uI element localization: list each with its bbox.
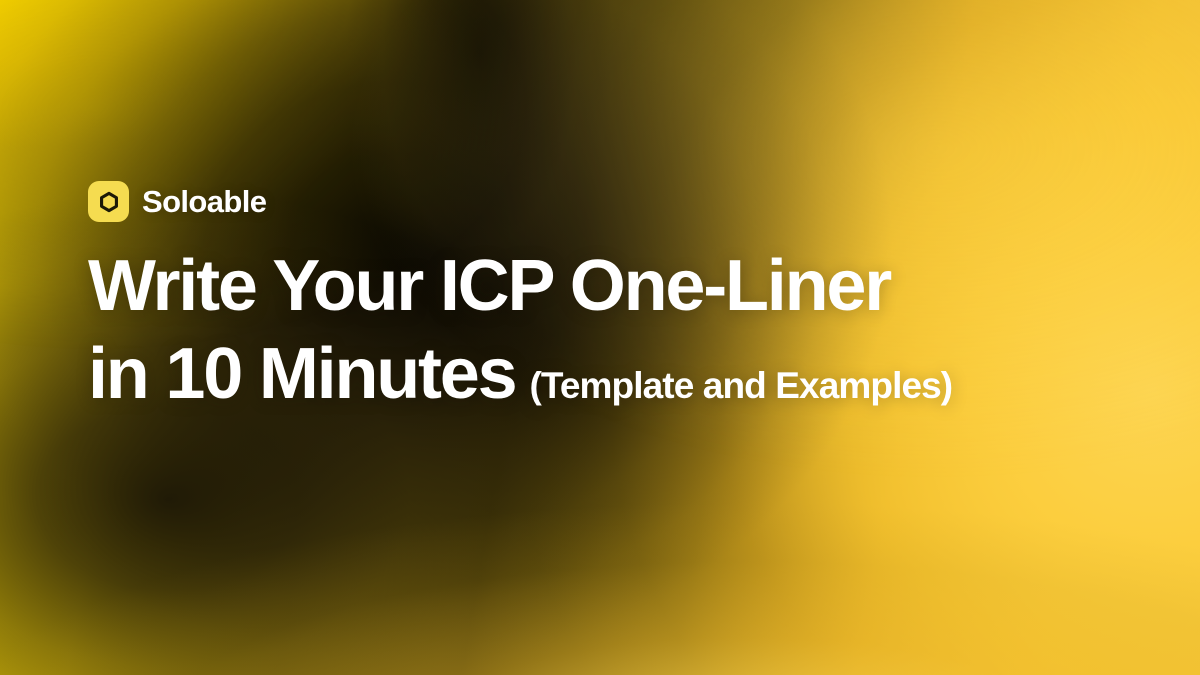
page-title-line-2-wrap: in 10 Minutes(Template and Examples) [88, 331, 1098, 419]
hexagon-icon [88, 181, 129, 222]
page-title-suffix: (Template and Examples) [529, 365, 952, 406]
page-title-line-2: in 10 Minutes [88, 334, 515, 414]
hero-card: Soloable Write Your ICP One-Liner in 10 … [0, 0, 1200, 675]
brand-name: Soloable [142, 186, 266, 217]
hero-content: Soloable Write Your ICP One-Liner in 10 … [88, 0, 1118, 675]
page-title: Write Your ICP One-Liner in 10 Minutes(T… [88, 243, 1098, 419]
brand-lockup: Soloable [88, 181, 266, 222]
page-title-line-1: Write Your ICP One-Liner [88, 243, 1098, 331]
